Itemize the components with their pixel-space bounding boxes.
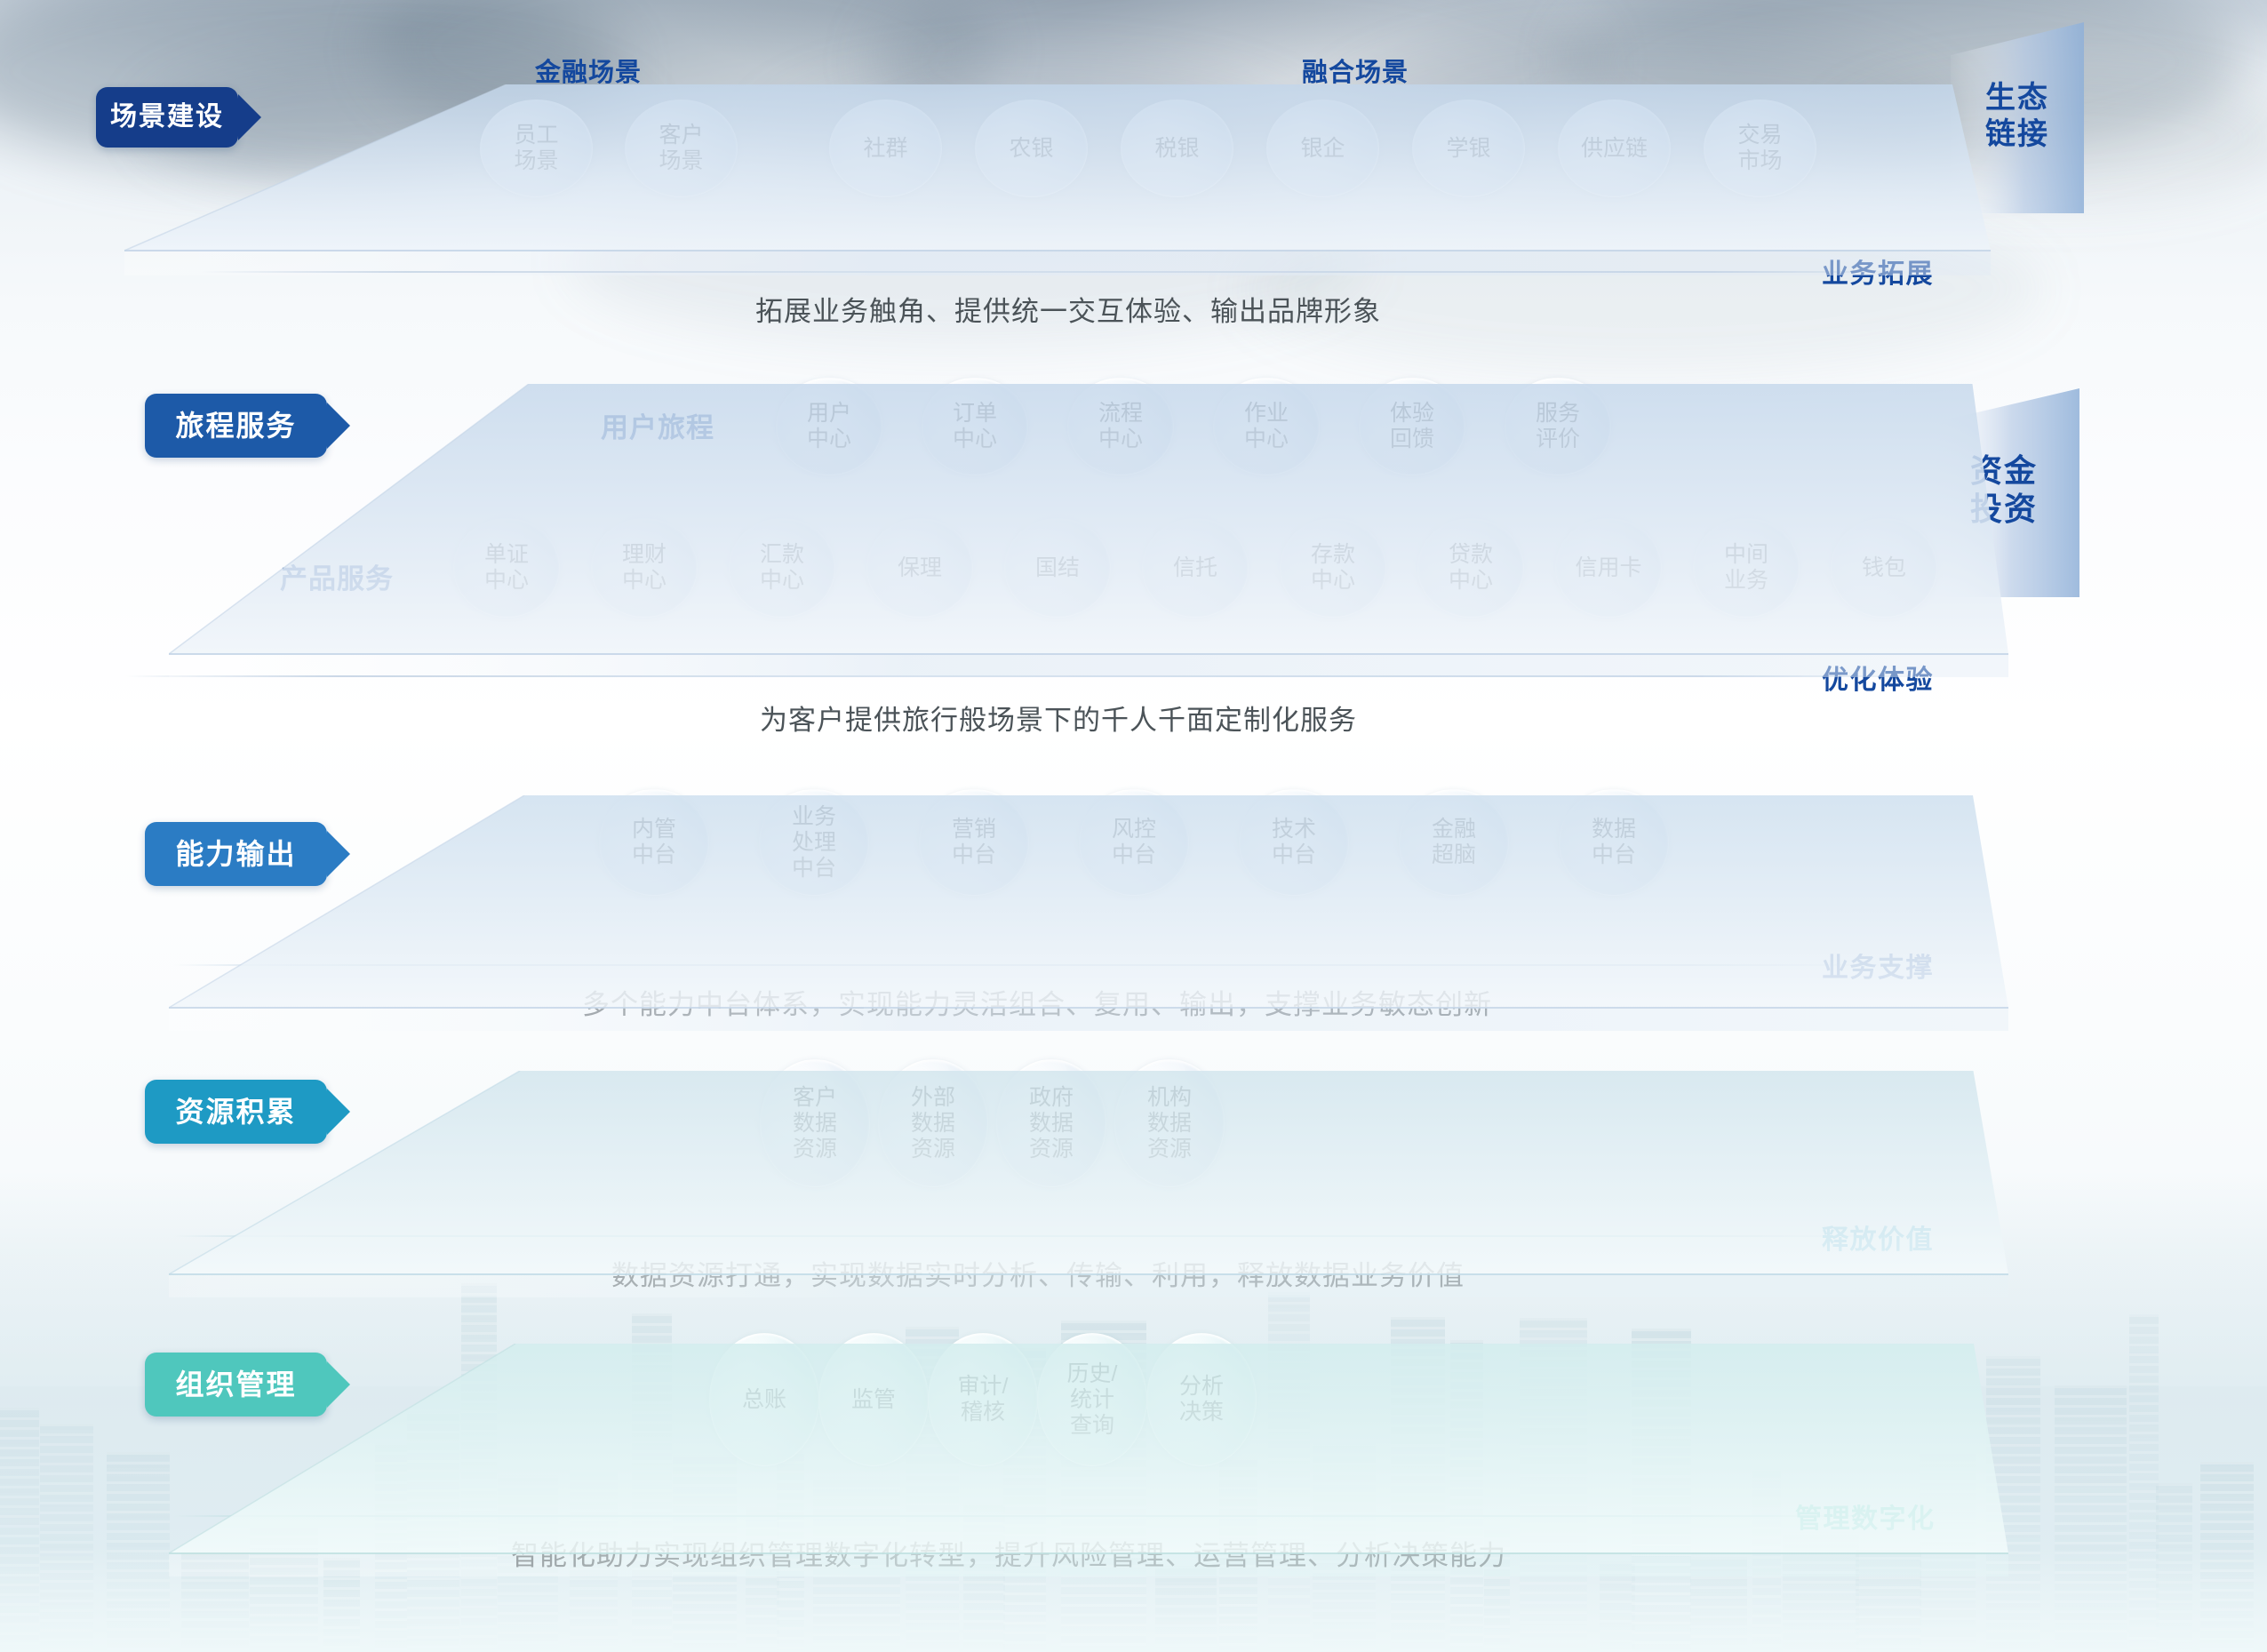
platform-slab-t5	[169, 1344, 2008, 1576]
group-label: 融合场景	[1302, 52, 1409, 89]
band-caption-t2: 为客户提供旅行般场景下的千人千面定制化服务	[760, 698, 1357, 738]
platform-slab-t2	[169, 384, 2008, 677]
platform-slab-t1	[124, 84, 1991, 275]
platform-slab-t3	[169, 795, 2008, 1031]
group-label: 金融场景	[535, 52, 642, 89]
platform-slab-t4	[169, 1071, 2008, 1297]
band-caption-t1: 拓展业务触角、提供统一交互体验、输出品牌形象	[755, 289, 1381, 329]
architecture-diagram: 场景建设生态链接金融场景融合场景员工场景客户场景社群农银税银银企学银供应链交易市…	[0, 0, 2267, 1652]
